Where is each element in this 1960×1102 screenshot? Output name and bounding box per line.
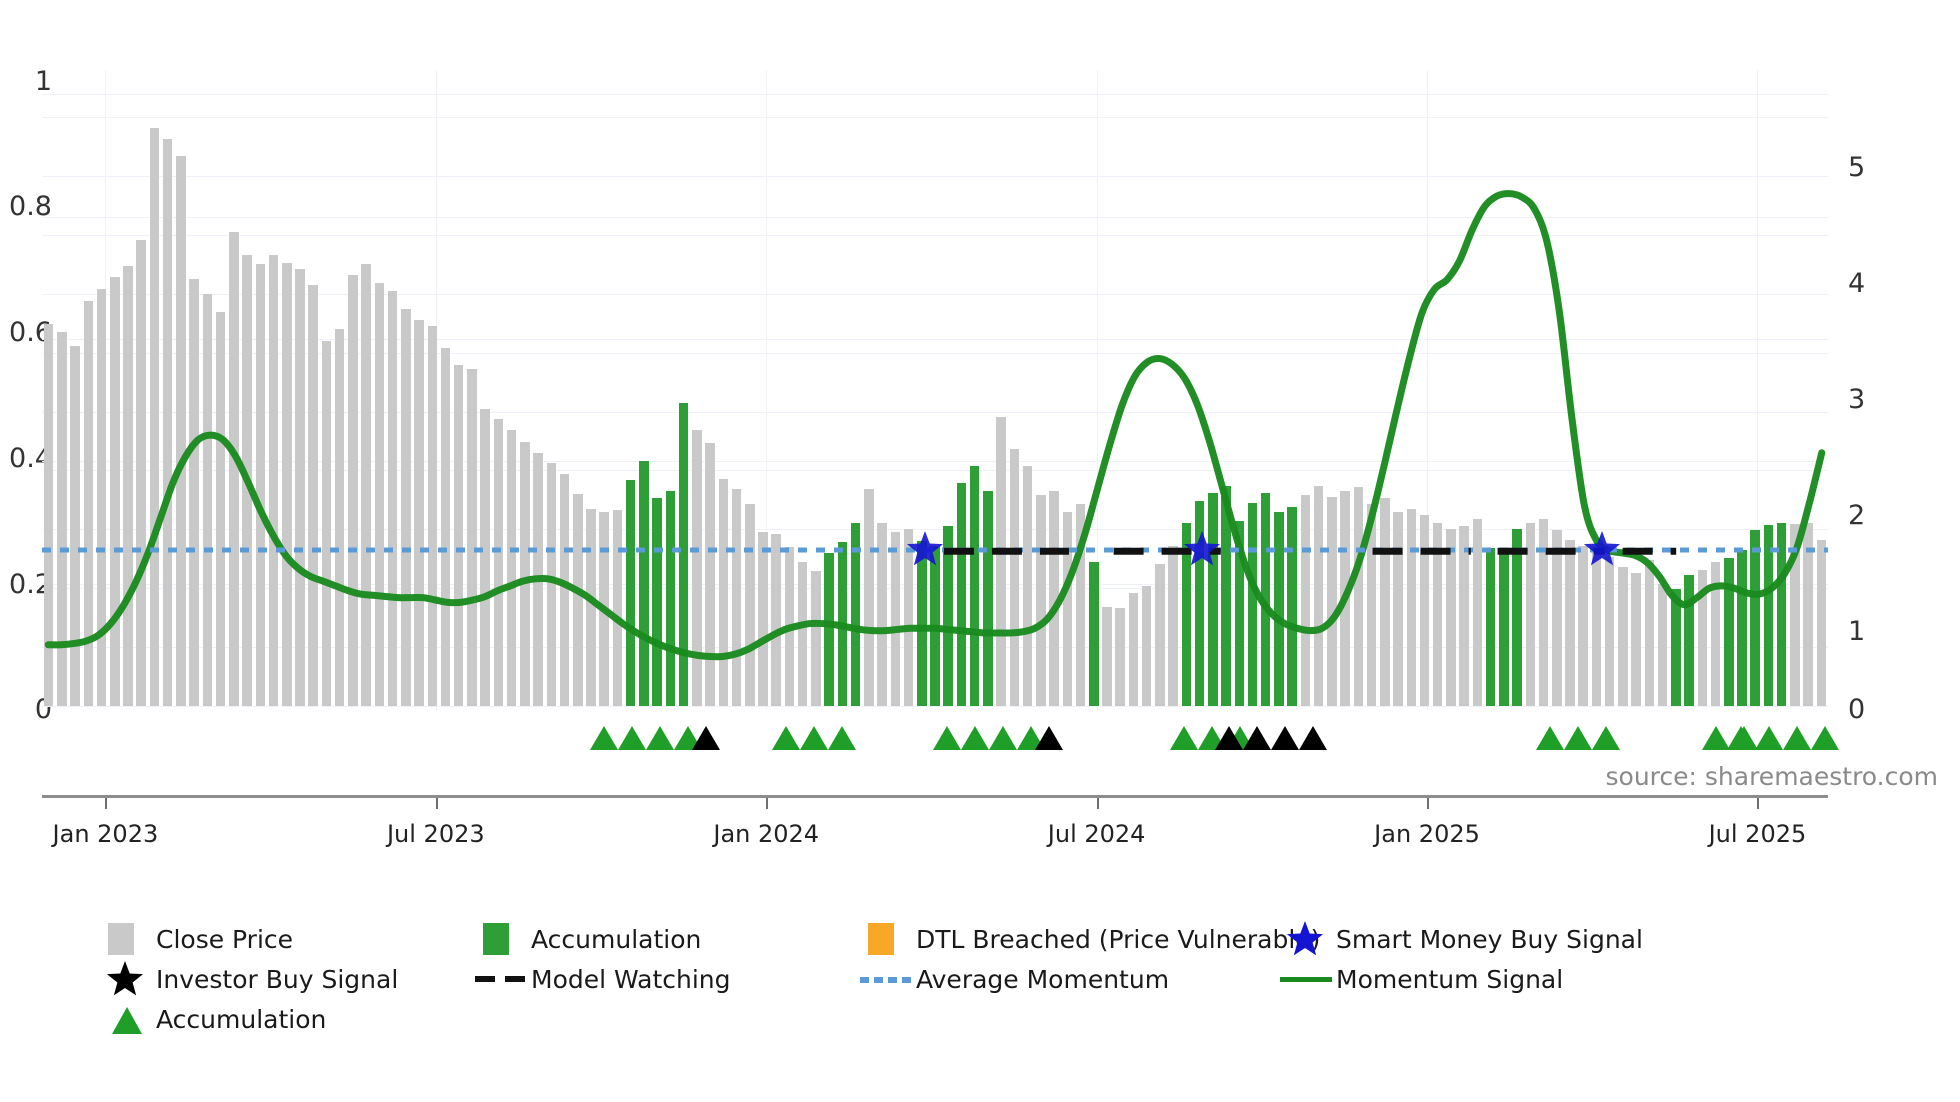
smart-money-star-icon — [1582, 530, 1622, 570]
legend-model-watching[interactable]: Model Watching — [475, 960, 731, 998]
chart-root: 1 0.8 0.6 0.4 0.2 0 5 4 3 2 1 0 Jan 2023… — [0, 0, 1960, 1102]
star-swatch-icon — [100, 960, 156, 998]
legend-row: Investor Buy SignalModel WatchingAverage… — [100, 960, 1900, 998]
investor-buy-triangle-marker — [1271, 726, 1299, 750]
accumulation-triangle-marker — [618, 726, 646, 750]
legend-label: Close Price — [156, 925, 293, 954]
accumulation-triangle-marker — [1702, 726, 1730, 750]
accumulation-triangle-marker — [800, 726, 828, 750]
rect-swatch-icon — [100, 920, 156, 958]
x-axis-tick — [436, 798, 438, 809]
x-axis-label: Jan 2025 — [1327, 820, 1527, 848]
y-axis-right-label-4: 1 — [1848, 616, 1908, 647]
line-overlays — [42, 70, 1828, 706]
star-swatch-icon — [1280, 920, 1336, 958]
legend-label: Model Watching — [531, 965, 731, 994]
momentum-signal-line — [48, 194, 1822, 657]
investor-buy-triangle-marker — [692, 726, 720, 750]
accumulation-triangle-marker — [828, 726, 856, 750]
accumulation-triangle-marker — [933, 726, 961, 750]
source-attribution: source: sharemaestro.com — [1606, 762, 1939, 791]
x-axis-tick — [1427, 798, 1429, 809]
x-axis-tick — [1097, 798, 1099, 809]
legend-dtl-breached[interactable]: DTL Breached (Price Vulnerable) — [860, 920, 1320, 958]
chart-legend: Close PriceAccumulationDTL Breached (Pri… — [100, 920, 1900, 1040]
legend-momentum-signal[interactable]: Momentum Signal — [1280, 960, 1563, 998]
legend-label: Accumulation — [156, 1005, 326, 1034]
accumulation-triangle-marker — [1592, 726, 1620, 750]
y-axis-right-label-0: 5 — [1848, 152, 1908, 183]
accumulation-triangle-marker — [1536, 726, 1564, 750]
smart-money-star-icon — [1182, 530, 1222, 570]
y-axis-right-label-2: 3 — [1848, 384, 1908, 415]
legend-row: Close PriceAccumulationDTL Breached (Pri… — [100, 920, 1900, 958]
legend-label: Momentum Signal — [1336, 965, 1563, 994]
investor-buy-triangle-marker — [1215, 726, 1243, 750]
triangle-swatch-icon — [100, 1000, 156, 1038]
legend-label: Accumulation — [531, 925, 701, 954]
x-axis-tick — [766, 798, 768, 809]
line-swatch-icon — [1280, 960, 1336, 998]
y-axis-right-label-5: 0 — [1848, 694, 1908, 725]
legend-investor-buy[interactable]: Investor Buy Signal — [100, 960, 398, 998]
legend-label: Investor Buy Signal — [156, 965, 398, 994]
legend-label: Smart Money Buy Signal — [1336, 925, 1643, 954]
x-axis-label: Jul 2023 — [336, 820, 536, 848]
accumulation-triangle-marker — [961, 726, 989, 750]
rect-swatch-icon — [860, 920, 916, 958]
investor-buy-triangle-marker — [1243, 726, 1271, 750]
accumulation-triangle-marker — [1727, 726, 1755, 750]
legend-label: DTL Breached (Price Vulnerable) — [916, 925, 1320, 954]
accumulation-triangle-marker — [1783, 726, 1811, 750]
y-axis-right-label-1: 4 — [1848, 268, 1908, 299]
signal-marker-row — [42, 712, 1828, 756]
dash-swatch-icon — [475, 960, 531, 998]
legend-smart-money[interactable]: Smart Money Buy Signal — [1280, 920, 1643, 958]
rect-swatch-icon — [475, 920, 531, 958]
x-axis-label: Jan 2023 — [5, 820, 205, 848]
accumulation-triangle-marker — [646, 726, 674, 750]
accumulation-triangle-marker — [1564, 726, 1592, 750]
accumulation-triangle-marker — [1170, 726, 1198, 750]
smart-money-star-icon — [905, 530, 945, 570]
accumulation-triangle-marker — [1811, 726, 1839, 750]
x-axis-label: Jul 2025 — [1657, 820, 1857, 848]
legend-row: Accumulation — [100, 1000, 1900, 1038]
legend-close-price[interactable]: Close Price — [100, 920, 293, 958]
legend-label: Average Momentum — [916, 965, 1169, 994]
dotted-swatch-icon — [860, 960, 916, 998]
legend-average-momentum[interactable]: Average Momentum — [860, 960, 1169, 998]
accumulation-triangle-marker — [1755, 726, 1783, 750]
accumulation-triangle-marker — [989, 726, 1017, 750]
investor-buy-triangle-marker — [1035, 726, 1063, 750]
plot-area — [42, 70, 1828, 706]
x-axis-label: Jan 2024 — [666, 820, 866, 848]
accumulation-triangle-marker — [772, 726, 800, 750]
legend-accumulation-bar[interactable]: Accumulation — [475, 920, 701, 958]
y-axis-right-label-3: 2 — [1848, 500, 1908, 531]
x-axis-tick — [105, 798, 107, 809]
x-axis-tick — [1757, 798, 1759, 809]
accumulation-triangle-marker — [590, 726, 618, 750]
investor-buy-triangle-marker — [1299, 726, 1327, 750]
legend-accumulation-marker[interactable]: Accumulation — [100, 1000, 326, 1038]
gridline-h — [42, 706, 1828, 707]
x-axis-line — [42, 795, 1828, 798]
x-axis-label: Jul 2024 — [997, 820, 1197, 848]
